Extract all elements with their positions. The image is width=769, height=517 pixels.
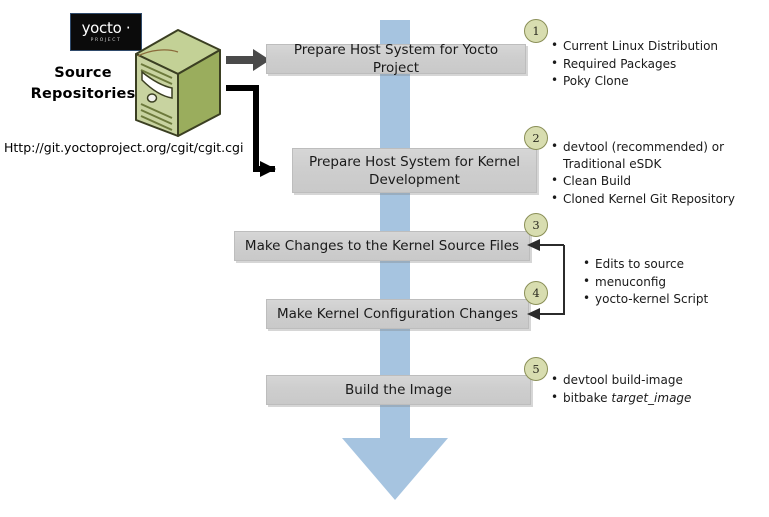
bullet-item: Current Linux Distribution bbox=[551, 38, 765, 55]
bullet-list-step-5-items: devtool build-imagebitbake target_image bbox=[551, 372, 765, 406]
step-number-5: 5 bbox=[524, 357, 548, 381]
process-box-step-3[interactable]: Make Changes to the Kernel Source Files bbox=[234, 231, 530, 261]
connector-server-to-step2-segment2 bbox=[253, 85, 259, 172]
bracket-arrowhead-step3 bbox=[527, 239, 540, 251]
bracket-arrowhead-step4 bbox=[527, 308, 540, 320]
bullet-item: Clean Build bbox=[551, 173, 765, 190]
bullet-item: Required Packages bbox=[551, 56, 765, 73]
logo-wordmark: yocto · bbox=[82, 21, 131, 36]
bracket-connector-vertical bbox=[563, 245, 565, 315]
bullet-list-step-1-items: Current Linux DistributionRequired Packa… bbox=[551, 38, 765, 90]
bracket-connector-to-step4 bbox=[539, 313, 564, 315]
bullet-item-emphasis: target_image bbox=[611, 391, 691, 405]
bullet-item: yocto-kernel Script bbox=[583, 291, 763, 308]
source-repositories-label-line1: Source bbox=[24, 63, 142, 84]
bullet-list-steps-3-4: Edits to sourcemenuconfigyocto-kernel Sc… bbox=[583, 256, 763, 309]
process-box-step-4[interactable]: Make Kernel Configuration Changes bbox=[266, 299, 529, 329]
process-box-step-2[interactable]: Prepare Host System for Kernel Developme… bbox=[292, 148, 537, 193]
server-icon bbox=[132, 28, 224, 140]
diagram-canvas: yocto · PROJECT Source Repositories Http… bbox=[0, 0, 769, 517]
step-number-4: 4 bbox=[524, 281, 548, 305]
step-number-2: 2 bbox=[524, 126, 548, 150]
step-number-3: 3 bbox=[524, 213, 548, 237]
bullet-list-step-2-items: devtool (recommended) or Traditional eSD… bbox=[551, 139, 765, 207]
bullet-item: Poky Clone bbox=[551, 73, 765, 90]
source-repositories-url: Http://git.yoctoproject.org/cgit/cgit.cg… bbox=[4, 140, 243, 155]
bullet-list-steps-3-4-items: Edits to sourcemenuconfigyocto-kernel Sc… bbox=[583, 256, 763, 308]
flow-arrow-head bbox=[342, 438, 448, 500]
bullet-item: menuconfig bbox=[583, 274, 763, 291]
step-number-1: 1 bbox=[524, 19, 548, 43]
bullet-item: Cloned Kernel Git Repository bbox=[551, 191, 765, 208]
bullet-item: devtool build-image bbox=[551, 372, 765, 389]
process-box-step-1[interactable]: Prepare Host System for Yocto Project bbox=[266, 44, 526, 74]
bullet-item: Edits to source bbox=[583, 256, 763, 273]
bullet-list-step-2: devtool (recommended) or Traditional eSD… bbox=[551, 139, 765, 208]
source-repositories-label-line2: Repositories bbox=[24, 84, 142, 105]
connector-server-to-step2-arrowhead bbox=[260, 161, 276, 177]
process-box-step-5[interactable]: Build the Image bbox=[266, 375, 531, 405]
bullet-item: devtool (recommended) or Traditional eSD… bbox=[551, 139, 765, 172]
bracket-connector-to-step3 bbox=[539, 244, 564, 246]
bullet-list-step-5: devtool build-imagebitbake target_image bbox=[551, 372, 765, 407]
bullet-item: bitbake target_image bbox=[551, 390, 765, 407]
source-repositories-label: Source Repositories bbox=[24, 63, 142, 105]
bullet-list-step-1: Current Linux DistributionRequired Packa… bbox=[551, 38, 765, 91]
logo-subtext: PROJECT bbox=[91, 37, 122, 44]
